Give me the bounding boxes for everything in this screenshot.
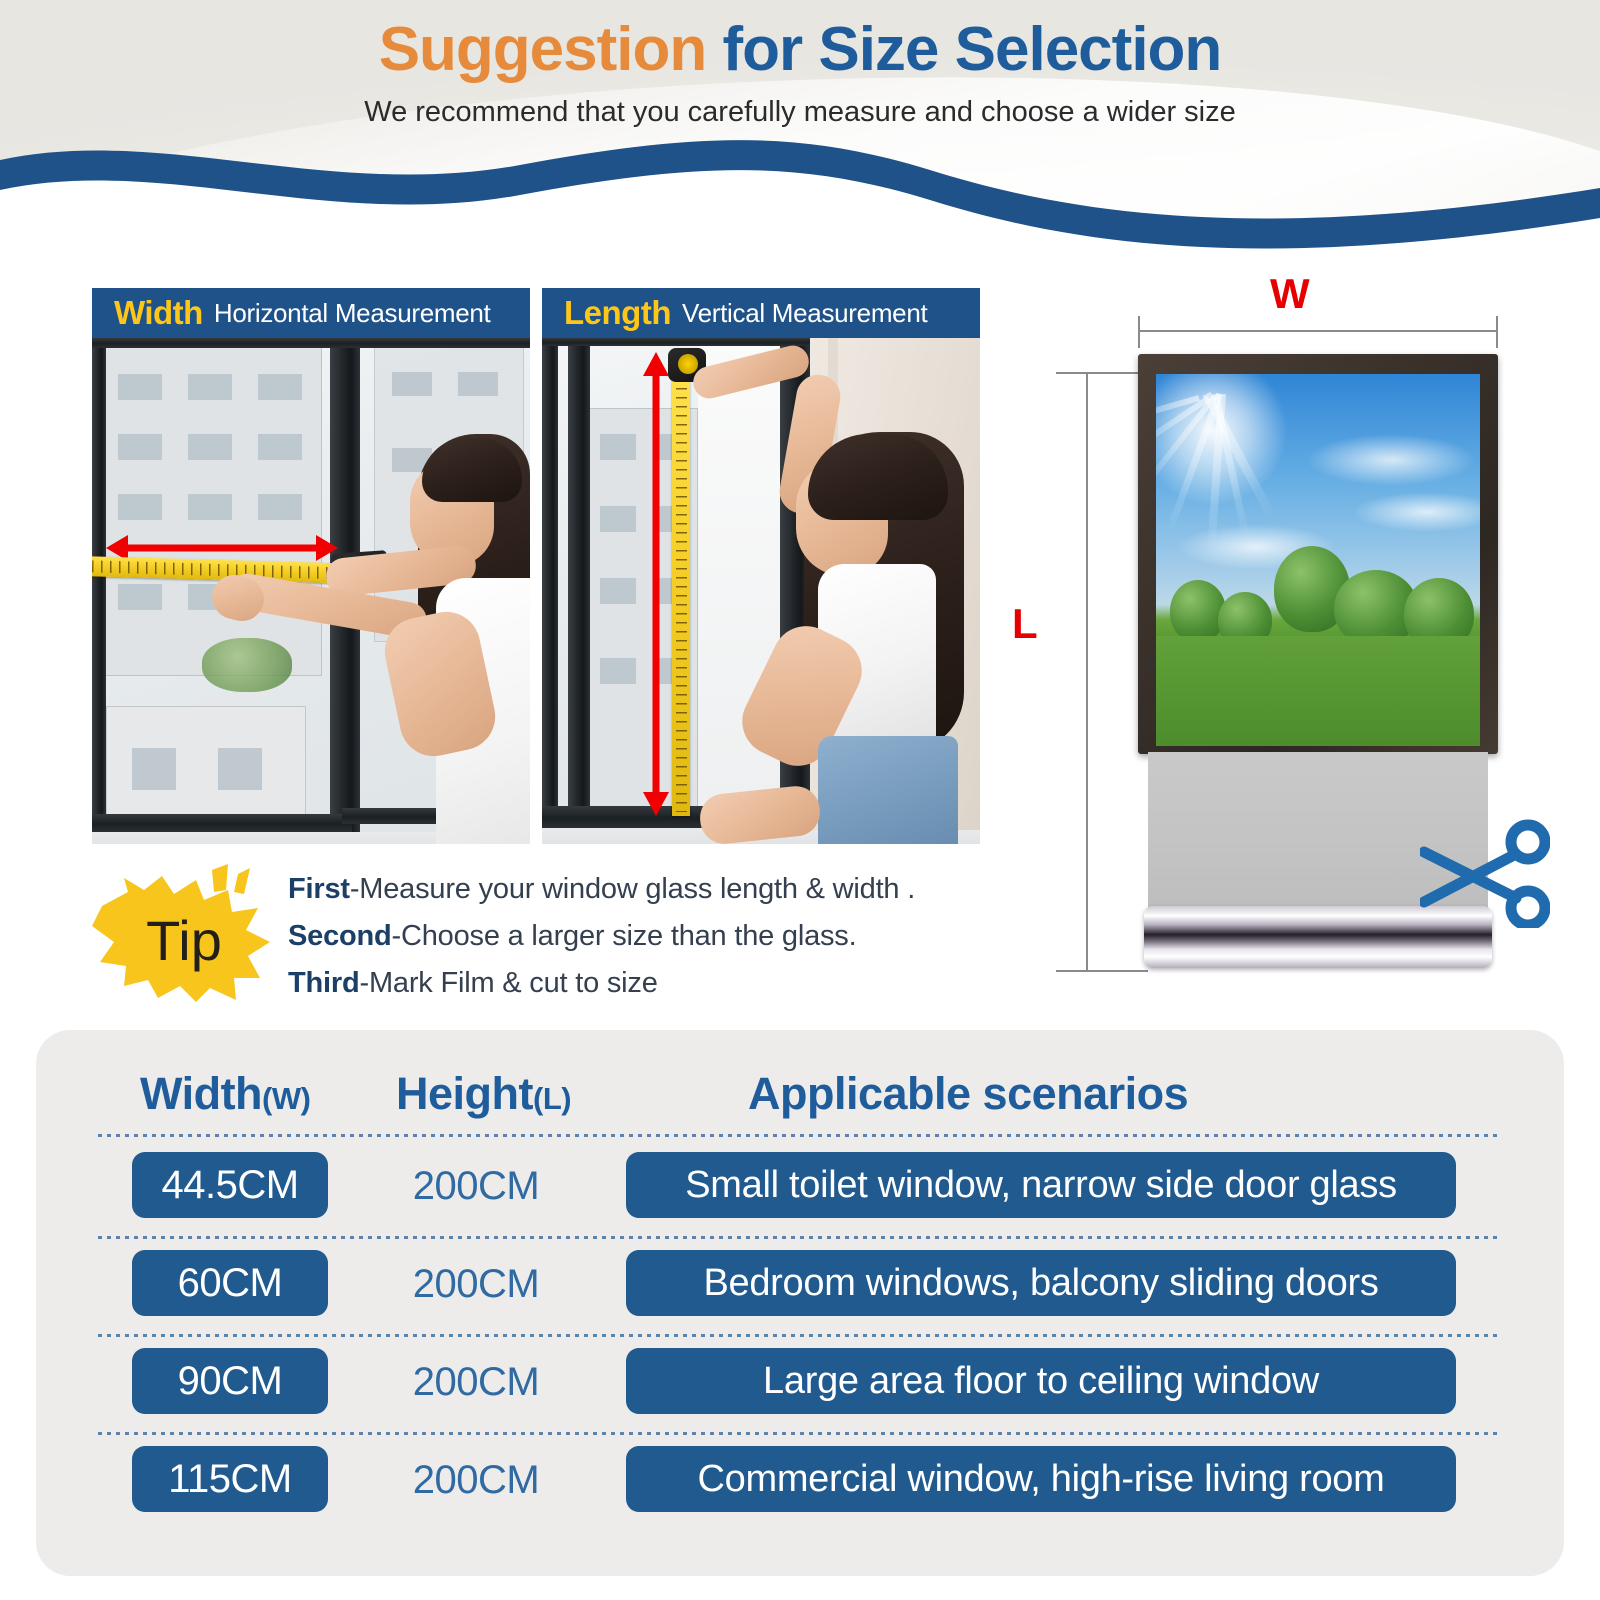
- photo-panel-width: Width Horizontal Measurement: [92, 288, 530, 844]
- wave-divider: [0, 130, 1600, 260]
- table-row: 115CM: [132, 1446, 328, 1512]
- tip-line-2-rest: -Choose a larger size than the glass.: [392, 920, 857, 952]
- tip-line-3: Third-Mark Film & cut to size: [288, 960, 658, 1007]
- panel-subtitle-length: Vertical Measurement: [682, 298, 927, 329]
- panel-bar-length: Length Vertical Measurement: [542, 288, 980, 338]
- tip-line-1: First-Measure your window glass length &…: [288, 866, 915, 913]
- table-row: 44.5CM: [132, 1152, 328, 1218]
- table-row: 60CM: [132, 1250, 328, 1316]
- size-table: Width(W) Height(L) Applicable scenarios …: [36, 1030, 1564, 1576]
- table-row: 200CM: [376, 1262, 576, 1307]
- panel-subtitle-width: Horizontal Measurement: [214, 298, 491, 329]
- page-title-blue: for Size Selection: [722, 15, 1221, 84]
- tip-line-2-lead: Second: [288, 920, 392, 952]
- table-row: 200CM: [376, 1360, 576, 1405]
- tip-block: Tip First-Measure your window glass leng…: [92, 862, 992, 1010]
- tip-badge: Tip: [92, 862, 280, 1002]
- photo-body-length: [542, 338, 980, 844]
- table-separator: [98, 1134, 1502, 1137]
- photo-body-width: [92, 338, 530, 844]
- tip-line-2: Second-Choose a larger size than the gla…: [288, 913, 856, 960]
- svg-text:Tip: Tip: [146, 909, 222, 972]
- page-title: Suggestion for Size Selection: [0, 14, 1600, 85]
- panel-keyword-width: Width: [114, 294, 203, 332]
- table-row: 200CM: [376, 1458, 576, 1503]
- table-row: Bedroom windows, balcony sliding doors: [626, 1250, 1456, 1316]
- length-dimension-label: L: [1012, 600, 1038, 648]
- panel-bar-width: Width Horizontal Measurement: [92, 288, 530, 338]
- tip-line-1-lead: First: [288, 873, 350, 905]
- scissors-icon: [1420, 818, 1550, 933]
- table-separator: [98, 1236, 1502, 1239]
- panel-keyword-length: Length: [564, 294, 671, 332]
- table-header-width: Width(W): [140, 1068, 310, 1120]
- table-separator: [98, 1334, 1502, 1337]
- table-row: 200CM: [376, 1164, 576, 1209]
- tip-line-1-rest: -Measure your window glass length & widt…: [350, 873, 915, 905]
- photo-panel-length: Length Vertical Measurement: [542, 288, 980, 844]
- tip-line-3-lead: Third: [288, 967, 360, 999]
- table-row: Large area floor to ceiling window: [626, 1348, 1456, 1414]
- table-header-height: Height(L): [396, 1068, 571, 1120]
- product-diagram: W L: [1000, 270, 1570, 1010]
- table-row: 90CM: [132, 1348, 328, 1414]
- tip-line-3-rest: -Mark Film & cut to size: [360, 967, 658, 999]
- page-subtitle: We recommend that you carefully measure …: [0, 96, 1600, 129]
- table-header-scenarios: Applicable scenarios: [748, 1068, 1188, 1120]
- table-separator: [98, 1432, 1502, 1435]
- page-title-orange: Suggestion: [379, 15, 707, 84]
- table-row: Commercial window, high-rise living room: [626, 1446, 1456, 1512]
- table-row: Small toilet window, narrow side door gl…: [626, 1152, 1456, 1218]
- width-dimension-label: W: [1270, 270, 1310, 318]
